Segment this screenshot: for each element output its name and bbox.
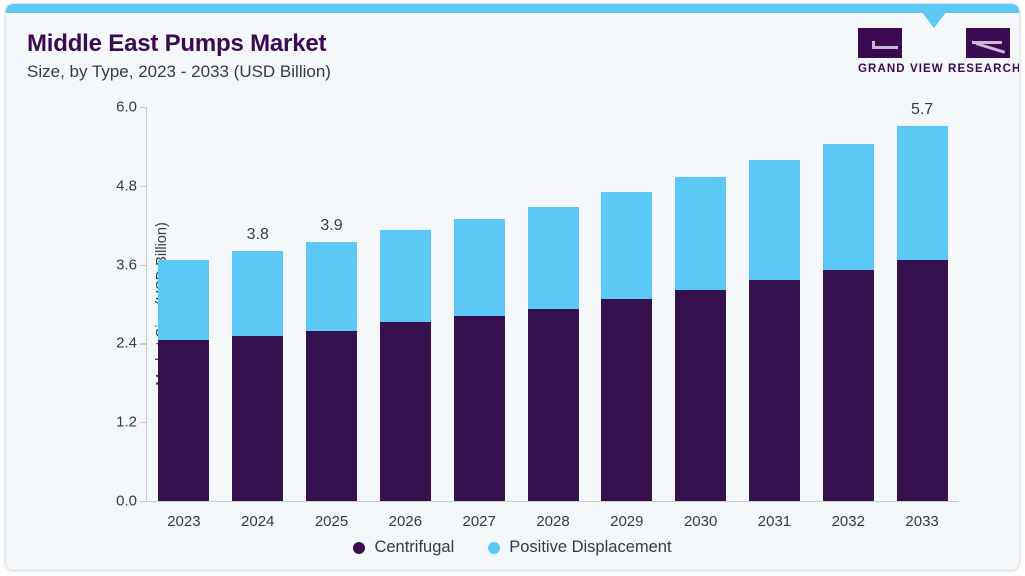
bar-segment[interactable] bbox=[306, 242, 357, 331]
x-tick-label: 2030 bbox=[684, 513, 717, 530]
x-tick-label: 2027 bbox=[462, 513, 495, 530]
bar-group[interactable]: 2026 bbox=[380, 107, 431, 501]
chart-card: Middle East Pumps Market Size, by Type, … bbox=[6, 4, 1019, 570]
bar-group[interactable]: 2029 bbox=[601, 107, 652, 501]
plot-area: 0.01.22.43.64.86.0 Market Size (USD Bill… bbox=[147, 107, 959, 501]
bar-segment[interactable] bbox=[823, 270, 874, 501]
legend-color-swatch-icon bbox=[488, 542, 500, 554]
y-tick-mark bbox=[140, 501, 147, 502]
bar-group[interactable]: 2028 bbox=[528, 107, 579, 501]
y-tick-label: 4.8 bbox=[97, 177, 137, 194]
y-tick-label: 0.0 bbox=[97, 493, 137, 510]
bar-segment[interactable] bbox=[528, 207, 579, 309]
legend-label: Centrifugal bbox=[374, 538, 454, 557]
bar-group[interactable]: 2031 bbox=[749, 107, 800, 501]
y-axis-line bbox=[146, 107, 147, 501]
logo-triangle-shape-icon bbox=[911, 4, 957, 45]
chart-title: Middle East Pumps Market bbox=[27, 30, 326, 58]
logo-letter-g-icon bbox=[858, 28, 902, 58]
bar-segment[interactable] bbox=[675, 290, 726, 501]
logo-letter-r-icon bbox=[966, 28, 1010, 58]
bar-segment[interactable] bbox=[897, 260, 948, 501]
bar-segment[interactable] bbox=[528, 309, 579, 501]
chart-legend: CentrifugalPositive Displacement bbox=[6, 538, 1019, 557]
bar-segment[interactable] bbox=[749, 160, 800, 280]
bar-group[interactable]: 5.72033 bbox=[897, 107, 948, 501]
bar-segment[interactable] bbox=[454, 219, 505, 316]
bar-value-label: 3.9 bbox=[320, 217, 342, 235]
accent-top-bar bbox=[6, 4, 1019, 13]
bar-group[interactable]: 3.82024 bbox=[232, 107, 283, 501]
x-tick-label: 2025 bbox=[315, 513, 348, 530]
legend-item[interactable]: Centrifugal bbox=[353, 538, 454, 557]
bar-value-label: 5.7 bbox=[911, 101, 933, 119]
y-axis-tick-labels: 0.01.22.43.64.86.0 bbox=[93, 107, 137, 501]
x-tick-label: 2023 bbox=[167, 513, 200, 530]
legend-label: Positive Displacement bbox=[509, 538, 671, 557]
bar-group[interactable]: 2032 bbox=[823, 107, 874, 501]
bar-segment[interactable] bbox=[749, 280, 800, 501]
bar-segment[interactable] bbox=[454, 316, 505, 501]
x-tick-label: 2033 bbox=[905, 513, 938, 530]
bar-segment[interactable] bbox=[306, 331, 357, 501]
x-tick-label: 2026 bbox=[389, 513, 422, 530]
y-tick-label: 1.2 bbox=[97, 414, 137, 431]
grand-view-research-logo: GRAND VIEW RESEARCH bbox=[858, 28, 1010, 78]
bar-segment[interactable] bbox=[601, 299, 652, 501]
bar-segment[interactable] bbox=[675, 177, 726, 290]
logo-g-bar-horizontal-icon bbox=[872, 46, 898, 49]
bar-group[interactable]: 2030 bbox=[675, 107, 726, 501]
x-tick-label: 2029 bbox=[610, 513, 643, 530]
bar-segment[interactable] bbox=[601, 192, 652, 299]
bar-segment[interactable] bbox=[232, 336, 283, 501]
y-tick-mark bbox=[140, 107, 147, 108]
x-tick-label: 2031 bbox=[758, 513, 791, 530]
legend-item[interactable]: Positive Displacement bbox=[488, 538, 671, 557]
bar-segment[interactable] bbox=[232, 251, 283, 336]
bar-segment[interactable] bbox=[380, 322, 431, 501]
bar-segment[interactable] bbox=[897, 126, 948, 260]
y-tick-label: 3.6 bbox=[97, 256, 137, 273]
logo-wordmark: GRAND VIEW RESEARCH bbox=[858, 63, 1010, 75]
y-tick-label: 2.4 bbox=[97, 335, 137, 352]
logo-letter-v-triangle-icon bbox=[911, 28, 957, 58]
bar-segment[interactable] bbox=[823, 144, 874, 269]
x-tick-label: 2032 bbox=[832, 513, 865, 530]
x-tick-label: 2024 bbox=[241, 513, 274, 530]
legend-color-swatch-icon bbox=[353, 542, 365, 554]
y-tick-mark bbox=[140, 265, 147, 266]
bar-group[interactable]: 3.92025 bbox=[306, 107, 357, 501]
y-tick-label: 6.0 bbox=[97, 99, 137, 116]
bar-segment[interactable] bbox=[158, 340, 209, 501]
logo-g-bar-vertical-icon bbox=[872, 41, 875, 49]
chart-subtitle: Size, by Type, 2023 - 2033 (USD Billion) bbox=[27, 62, 331, 82]
y-tick-mark bbox=[140, 343, 147, 344]
x-tick-label: 2028 bbox=[536, 513, 569, 530]
y-tick-mark bbox=[140, 422, 147, 423]
y-tick-mark bbox=[140, 186, 147, 187]
bar-group[interactable]: 2027 bbox=[454, 107, 505, 501]
bar-segment[interactable] bbox=[158, 260, 209, 340]
bar-segment[interactable] bbox=[380, 230, 431, 322]
bar-group[interactable]: 2023 bbox=[158, 107, 209, 501]
bar-value-label: 3.8 bbox=[247, 226, 269, 244]
